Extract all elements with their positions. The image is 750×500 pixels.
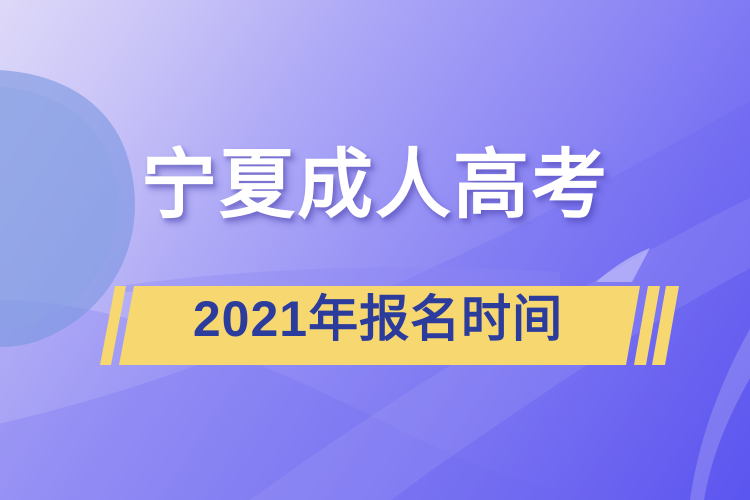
band-above-ribbon-shape bbox=[120, 267, 560, 292]
thin-arc-right-shape bbox=[690, 318, 750, 500]
sliver-above-ribbon-shape bbox=[596, 248, 650, 282]
ribbon-banner-group bbox=[0, 0, 750, 500]
promo-poster: 宁夏成人高考 2021年报名时间 bbox=[0, 0, 750, 500]
sub-title-container: 2021年报名时间 bbox=[0, 294, 750, 344]
main-title-container: 宁夏成人高考 bbox=[0, 148, 750, 224]
background-decoration-layer bbox=[0, 0, 750, 500]
sub-title: 2021年报名时间 bbox=[187, 294, 563, 344]
main-title: 宁夏成人高考 bbox=[141, 148, 609, 224]
